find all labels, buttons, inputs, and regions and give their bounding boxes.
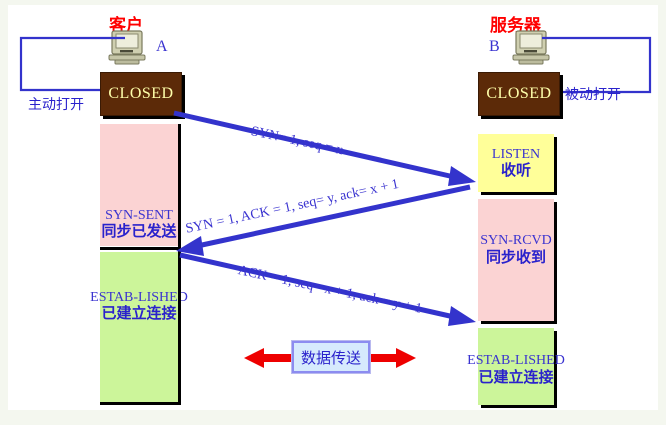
diagram-canvas: 客户 服务器 A B	[8, 5, 658, 410]
data-transfer-left-arrow	[244, 348, 294, 368]
tcp-handshake-diagram: 客户 服务器 A B	[0, 0, 666, 425]
data-transfer-box: 数据传送	[292, 341, 370, 373]
data-transfer-label: 数据传送	[301, 347, 361, 368]
data-transfer-right-arrow	[366, 348, 416, 368]
